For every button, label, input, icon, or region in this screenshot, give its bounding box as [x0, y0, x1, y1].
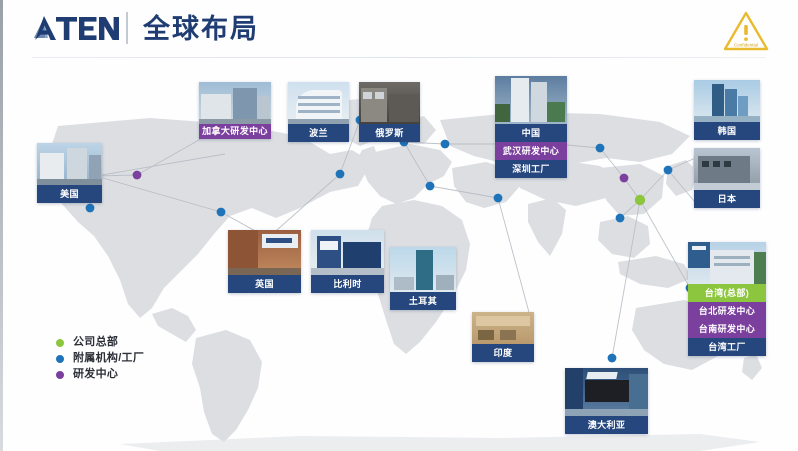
legend-label-rnd: 研发中心: [73, 368, 118, 381]
location-card-australia[interactable]: 澳大利亚: [565, 368, 648, 434]
legend-label-hq: 公司总部: [73, 336, 118, 349]
aten-logo: [32, 14, 120, 44]
map-dot-us-west: [86, 204, 95, 213]
slide-header: 全球布局 Confidential: [0, 0, 798, 58]
green-dot-icon: [56, 339, 64, 347]
map-dot-wuhan: [620, 174, 629, 183]
legend-item-hq: 公司总部: [56, 336, 144, 349]
location-card-taiwan[interactable]: 台湾(总部) 台北研发中心 台南研发中心 台湾工厂: [688, 242, 766, 356]
page-title: 全球布局: [143, 13, 259, 45]
photo-china: [495, 76, 567, 124]
card-label-taipei-rnd: 台北研发中心: [688, 302, 766, 320]
card-label-japan: 日本: [694, 190, 760, 208]
card-label-china: 中国: [495, 124, 567, 142]
location-card-russia[interactable]: 俄罗斯: [359, 82, 420, 142]
location-card-japan[interactable]: 日本: [694, 148, 760, 208]
purple-dot-icon: [56, 371, 64, 379]
confidential-text: Confidential: [734, 42, 758, 47]
card-label-tainan-rnd: 台南研发中心: [688, 320, 766, 338]
location-card-korea[interactable]: 韩国: [694, 80, 760, 140]
confidential-badge: Confidential: [722, 8, 770, 54]
location-card-belgium[interactable]: 比利时: [311, 230, 384, 293]
map-dot-shenzhen: [616, 214, 625, 223]
card-label-taiwan-hq: 台湾(总部): [688, 284, 766, 302]
photo-belgium: [311, 230, 384, 275]
location-card-poland[interactable]: 波兰: [288, 82, 349, 142]
photo-poland: [288, 82, 349, 124]
card-label-australia: 澳大利亚: [565, 416, 648, 434]
card-label-canada: 加拿大研发中心: [199, 124, 271, 139]
card-label-belgium: 比利时: [311, 275, 384, 293]
photo-taiwan: [688, 242, 766, 284]
legend-item-subsidiary: 附属机构/工厂: [56, 352, 144, 365]
map-dot-china-north: [596, 144, 605, 153]
location-card-china[interactable]: 中国 武汉研发中心 深圳工厂: [495, 76, 567, 178]
location-card-india[interactable]: 印度: [472, 312, 534, 362]
map-dot-korea: [664, 166, 673, 175]
map-dot-canada: [133, 171, 142, 180]
card-label-taiwan-factory: 台湾工厂: [688, 338, 766, 356]
photo-korea: [694, 80, 760, 122]
card-label-india: 印度: [472, 344, 534, 362]
map-legend: 公司总部 附属机构/工厂 研发中心: [56, 336, 144, 384]
photo-india: [472, 312, 534, 344]
location-card-uk[interactable]: 英国: [228, 230, 301, 293]
card-label-russia: 俄罗斯: [359, 124, 420, 142]
card-label-korea: 韩国: [694, 122, 760, 140]
legend-label-subsidiary: 附属机构/工厂: [73, 352, 144, 365]
legend-item-rnd: 研发中心: [56, 368, 144, 381]
photo-russia: [359, 82, 420, 124]
location-card-turkey[interactable]: 土耳其: [390, 247, 456, 310]
header-divider: [126, 12, 128, 44]
location-card-usa[interactable]: 美国: [37, 143, 102, 203]
warning-triangle-icon: Confidential: [722, 8, 770, 54]
blue-dot-icon: [56, 355, 64, 363]
photo-usa: [37, 143, 102, 185]
card-label-usa: 美国: [37, 185, 102, 203]
photo-canada: [199, 82, 271, 124]
card-label-turkey: 土耳其: [390, 292, 456, 310]
card-label-uk: 英国: [228, 275, 301, 293]
photo-uk: [228, 230, 301, 275]
map-dot-us-east: [217, 208, 226, 217]
map-dot-atlantic: [336, 170, 345, 179]
card-label-wuhan: 武汉研发中心: [495, 142, 567, 160]
card-label-poland: 波兰: [288, 124, 349, 142]
map-dot-turkey: [426, 182, 435, 191]
slide-canvas: 全球布局 Confidential: [0, 0, 798, 451]
map-dot-india: [494, 194, 503, 203]
photo-australia: [565, 368, 648, 416]
map-dot-taiwan-hq: [635, 195, 645, 205]
photo-japan: [694, 148, 760, 190]
aten-logo-mark: [32, 14, 120, 44]
location-card-canada[interactable]: 加拿大研发中心: [199, 82, 271, 139]
card-label-shenzhen: 深圳工厂: [495, 160, 567, 178]
photo-turkey: [390, 247, 456, 292]
map-dot-australia: [608, 354, 617, 363]
map-dot-poland: [441, 140, 450, 149]
